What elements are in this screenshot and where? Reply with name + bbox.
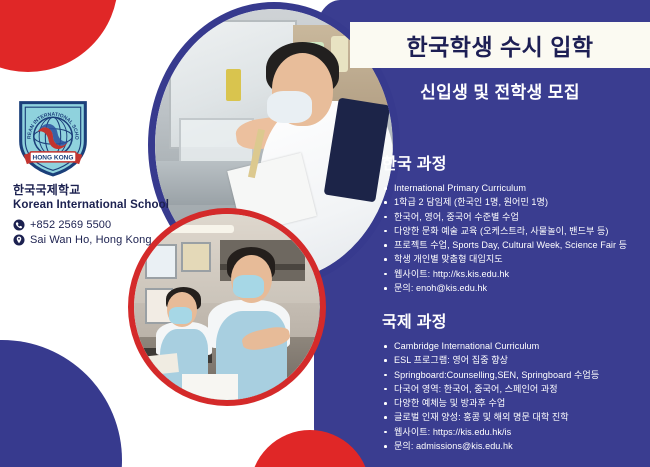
student-face-mask bbox=[267, 91, 312, 124]
subheadline-text: 신입생 및 전학생 모집 bbox=[350, 78, 650, 103]
location-pin-icon bbox=[13, 234, 25, 246]
list-item: 글로벌 인재 양성: 홍콩 및 해외 명문 대학 진학 bbox=[382, 410, 650, 424]
school-name-english: Korean International School bbox=[13, 198, 169, 213]
list-item-website[interactable]: 웹사이트: http://ks.kis.edu.hk bbox=[382, 267, 650, 281]
ceiling-light bbox=[167, 225, 234, 232]
school-crest-icon: HONG KONG KOREAN INTERNATIONAL SCHOOL bbox=[14, 98, 92, 178]
art-class-photo-image bbox=[134, 214, 320, 400]
headline-text: 한국학생 수시 입학 bbox=[406, 28, 593, 62]
list-item: 다양한 예체능 및 방과후 수업 bbox=[382, 396, 650, 410]
contact-location-text: Sai Wan Ho, Hong Kong bbox=[30, 234, 152, 246]
list-item: Cambridge International Curriculum bbox=[382, 339, 650, 353]
list-item: Springboard:Counselling,SEN, Springboard… bbox=[382, 368, 650, 382]
artwork-frame bbox=[181, 242, 211, 272]
international-curriculum-section: 국제 과정 Cambridge International Curriculum… bbox=[382, 308, 650, 453]
list-item: 다국어 영역: 한국어, 중국어, 스페인어 과정 bbox=[382, 382, 650, 396]
school-name-korean: 한국국제학교 bbox=[13, 183, 169, 198]
background-student-mask bbox=[169, 307, 191, 324]
phone-icon bbox=[13, 219, 25, 231]
korean-curriculum-list: International Primary Curriculum 1학급 2 담… bbox=[382, 181, 650, 295]
korean-curriculum-title: 한국 과정 bbox=[382, 150, 650, 174]
contact-phone-text: +852 2569 5500 bbox=[30, 219, 111, 231]
artwork-frame bbox=[145, 244, 177, 280]
crest-banner-text: HONG KONG bbox=[33, 155, 74, 162]
contact-phone-row[interactable]: +852 2569 5500 bbox=[13, 219, 152, 231]
list-item: 학생 개인별 맞춤형 대입지도 bbox=[382, 252, 650, 266]
list-item-website[interactable]: 웹사이트: https://kis.edu.hk/is bbox=[382, 425, 650, 439]
international-curriculum-title: 국제 과정 bbox=[382, 308, 650, 332]
list-item: ESL 프로그램: 영어 집중 향상 bbox=[382, 353, 650, 367]
list-item-email[interactable]: 문의: enoh@kis.edu.hk bbox=[382, 281, 650, 295]
decorative-blue-circle-bottom-left bbox=[0, 340, 122, 467]
list-item: 1학급 2 담임제 (한국인 1명, 원어민 1명) bbox=[382, 195, 650, 209]
headline-band: 한국학생 수시 입학 bbox=[350, 22, 650, 68]
list-item: 한국어, 영어, 중국어 수준별 수업 bbox=[382, 210, 650, 224]
foreground-student-mask bbox=[233, 275, 265, 297]
contact-location-row[interactable]: Sai Wan Ho, Hong Kong bbox=[13, 234, 152, 246]
art-class-photo bbox=[128, 208, 326, 406]
decorative-red-circle-top-left bbox=[0, 0, 118, 72]
school-crest-logo: HONG KONG KOREAN INTERNATIONAL SCHOOL bbox=[14, 98, 92, 178]
contact-block: +852 2569 5500 Sai Wan Ho, Hong Kong bbox=[13, 219, 152, 249]
international-curriculum-list: Cambridge International Curriculum ESL 프… bbox=[382, 339, 650, 453]
korean-curriculum-section: 한국 과정 International Primary Curriculum 1… bbox=[382, 150, 650, 295]
list-item-email[interactable]: 문의: admissions@kis.edu.hk bbox=[382, 439, 650, 453]
list-item: International Primary Curriculum bbox=[382, 181, 650, 195]
art-drawing-paper bbox=[182, 374, 238, 400]
admissions-poster: 한국학생 수시 입학 신입생 및 전학생 모집 한국 과정 Internatio… bbox=[0, 0, 650, 467]
list-item: 프로젝트 수업, Sports Day, Cultural Week, Scie… bbox=[382, 238, 650, 252]
school-name-block: 한국국제학교 Korean International School bbox=[13, 183, 169, 213]
lab-yellow-container bbox=[226, 69, 240, 102]
list-item: 다양한 문화 예술 교육 (오케스트라, 사물놀이, 밴드부 등) bbox=[382, 224, 650, 238]
